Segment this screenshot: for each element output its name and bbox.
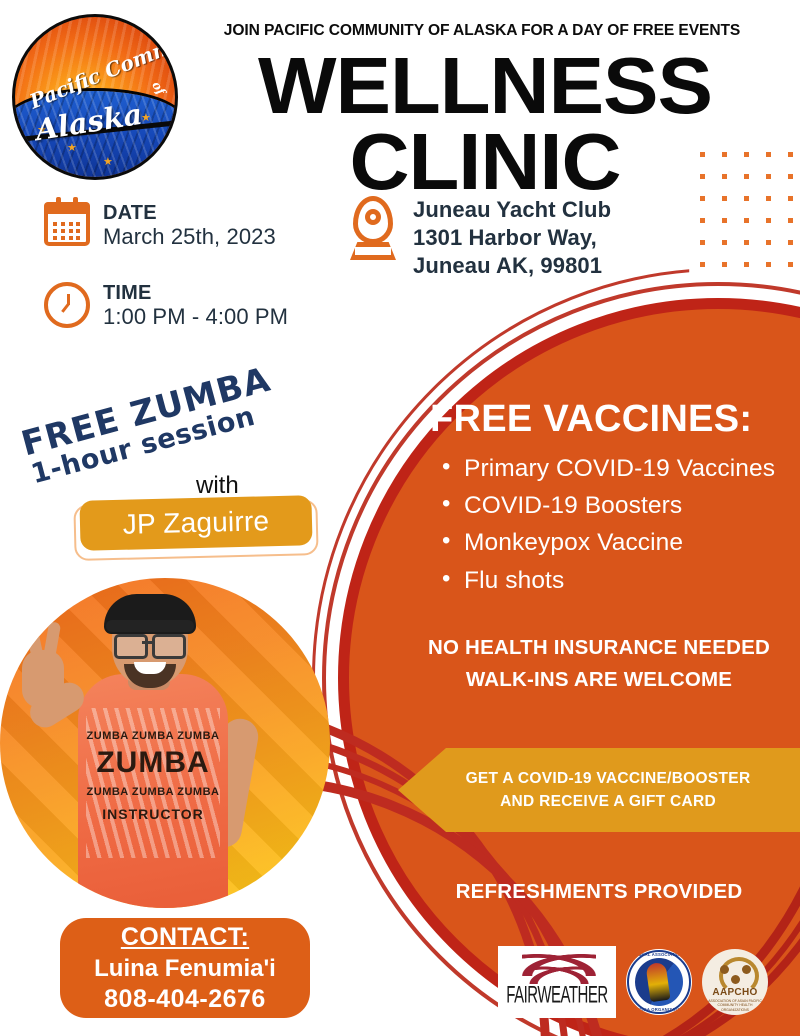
list-item: Primary COVID-19 Vaccines bbox=[436, 450, 800, 487]
vaccines-list: Primary COVID-19 Vaccines COVID-19 Boost… bbox=[436, 450, 800, 599]
date-label: DATE bbox=[103, 202, 276, 224]
time-label: TIME bbox=[103, 282, 288, 304]
aapcho-dot-icon bbox=[742, 965, 751, 974]
gift-card-banner: GET A COVID-19 VACCINE/BOOSTER AND RECEI… bbox=[398, 748, 800, 832]
calendar-icon bbox=[44, 202, 90, 246]
napho-ring bbox=[627, 950, 691, 1014]
venue-street: 1301 Harbor Way, bbox=[413, 224, 611, 252]
page-title: WELLNESS CLINIC bbox=[168, 48, 800, 200]
photo-glasses-right bbox=[152, 634, 186, 659]
shirt-text-instructor: INSTRUCTOR bbox=[78, 806, 228, 822]
gift-card-line1: GET A COVID-19 VACCINE/BOOSTER bbox=[466, 767, 751, 790]
logo-star-icon: ★ bbox=[67, 143, 77, 154]
grid-dot bbox=[700, 240, 705, 245]
napho-bottom-text: PASIFIKA ORGANIZATIONS bbox=[626, 1007, 692, 1012]
time-value: 1:00 PM - 4:00 PM bbox=[103, 304, 288, 330]
grid-dot bbox=[788, 240, 793, 245]
fairweather-logo: FAIRWEATHER bbox=[498, 946, 616, 1018]
grid-dot bbox=[700, 262, 705, 267]
photo-cap-brim bbox=[106, 620, 194, 632]
grid-dot bbox=[744, 240, 749, 245]
aapcho-wordmark: AAPCHO bbox=[702, 987, 768, 998]
grid-dot bbox=[744, 262, 749, 267]
contact-label: CONTACT: bbox=[121, 923, 249, 952]
instructor-photo: ZUMBA ZUMBA ZUMBA ZUMBA ZUMBA ZUMBA ZUMB… bbox=[0, 578, 330, 908]
napho-logo: NATIONAL ASSOCIATION OF PASIFIKA ORGANIZ… bbox=[626, 949, 692, 1015]
list-item: Flu shots bbox=[436, 562, 800, 599]
grid-dot bbox=[722, 262, 727, 267]
photo-glasses-bridge bbox=[142, 641, 154, 644]
instructor-name: JP Zaguirre bbox=[122, 505, 269, 541]
fairweather-wordmark: FAIRWEATHER bbox=[506, 982, 607, 1009]
list-item: COVID-19 Boosters bbox=[436, 487, 800, 524]
flyer-canvas: ★ ★ ★ ★ Pacific Community of Alaska JOIN… bbox=[0, 0, 800, 1036]
aapcho-dot-icon bbox=[731, 975, 740, 984]
refreshments-text: REFRESHMENTS PROVIDED bbox=[398, 880, 800, 904]
aapcho-subtitle: ASSOCIATION OF ASIAN PACIFIC COMMUNITY H… bbox=[705, 999, 765, 1012]
logo-star-icon: ★ bbox=[103, 157, 113, 168]
aapcho-logo: AAPCHO ASSOCIATION OF ASIAN PACIFIC COMM… bbox=[702, 949, 768, 1015]
insurance-notice: NO HEALTH INSURANCE NEEDED WALK-INS ARE … bbox=[398, 632, 800, 696]
free-vaccines-title: FREE VACCINES: bbox=[430, 398, 800, 441]
insurance-notice-line2: WALK-INS ARE WELCOME bbox=[398, 664, 800, 696]
grid-dot bbox=[788, 218, 793, 223]
gift-card-line2: AND RECEIVE A GIFT CARD bbox=[500, 790, 716, 813]
clock-icon bbox=[44, 282, 90, 328]
partner-logos: FAIRWEATHER NATIONAL ASSOCIATION OF PASI… bbox=[498, 946, 768, 1018]
photo-glasses-left bbox=[114, 634, 148, 659]
aapcho-dot-icon bbox=[720, 965, 729, 974]
venue-city: Juneau AK, 99801 bbox=[413, 252, 611, 280]
grid-dot bbox=[722, 240, 727, 245]
insurance-notice-line1: NO HEALTH INSURANCE NEEDED bbox=[398, 632, 800, 664]
grid-dot bbox=[766, 240, 771, 245]
photo-peace-hand bbox=[22, 650, 64, 708]
date-row: DATE March 25th, 2023 bbox=[44, 202, 276, 251]
with-label: with bbox=[196, 472, 239, 500]
list-item: Monkeypox Vaccine bbox=[436, 524, 800, 561]
grid-dot bbox=[722, 218, 727, 223]
grid-dot bbox=[744, 218, 749, 223]
venue-name: Juneau Yacht Club bbox=[413, 196, 611, 224]
instructor-name-badge: JP Zaguirre bbox=[79, 495, 312, 551]
contact-phone: 808-404-2676 bbox=[104, 985, 266, 1014]
contact-box: CONTACT: Luina Fenumia'i 808-404-2676 bbox=[60, 918, 310, 1018]
napho-top-text: NATIONAL ASSOCIATION OF bbox=[626, 952, 692, 957]
grid-dot bbox=[766, 262, 771, 267]
date-value: March 25th, 2023 bbox=[103, 224, 276, 250]
contact-name: Luina Fenumia'i bbox=[94, 955, 276, 983]
grid-dot bbox=[766, 218, 771, 223]
kicker-text: JOIN PACIFIC COMMUNITY OF ALASKA FOR A D… bbox=[176, 22, 788, 40]
pacific-community-alaska-logo: ★ ★ ★ ★ Pacific Community of Alaska bbox=[12, 14, 178, 180]
time-row: TIME 1:00 PM - 4:00 PM bbox=[44, 282, 288, 331]
shirt-text-logo: ZUMBA bbox=[78, 746, 228, 780]
shirt-text-top: ZUMBA ZUMBA ZUMBA bbox=[78, 730, 228, 742]
grid-dot bbox=[788, 262, 793, 267]
location-row: Juneau Yacht Club 1301 Harbor Way, Junea… bbox=[346, 196, 611, 280]
grid-dot bbox=[700, 218, 705, 223]
shirt-text-mid: ZUMBA ZUMBA ZUMBA bbox=[78, 786, 228, 798]
map-pin-icon bbox=[346, 196, 400, 260]
